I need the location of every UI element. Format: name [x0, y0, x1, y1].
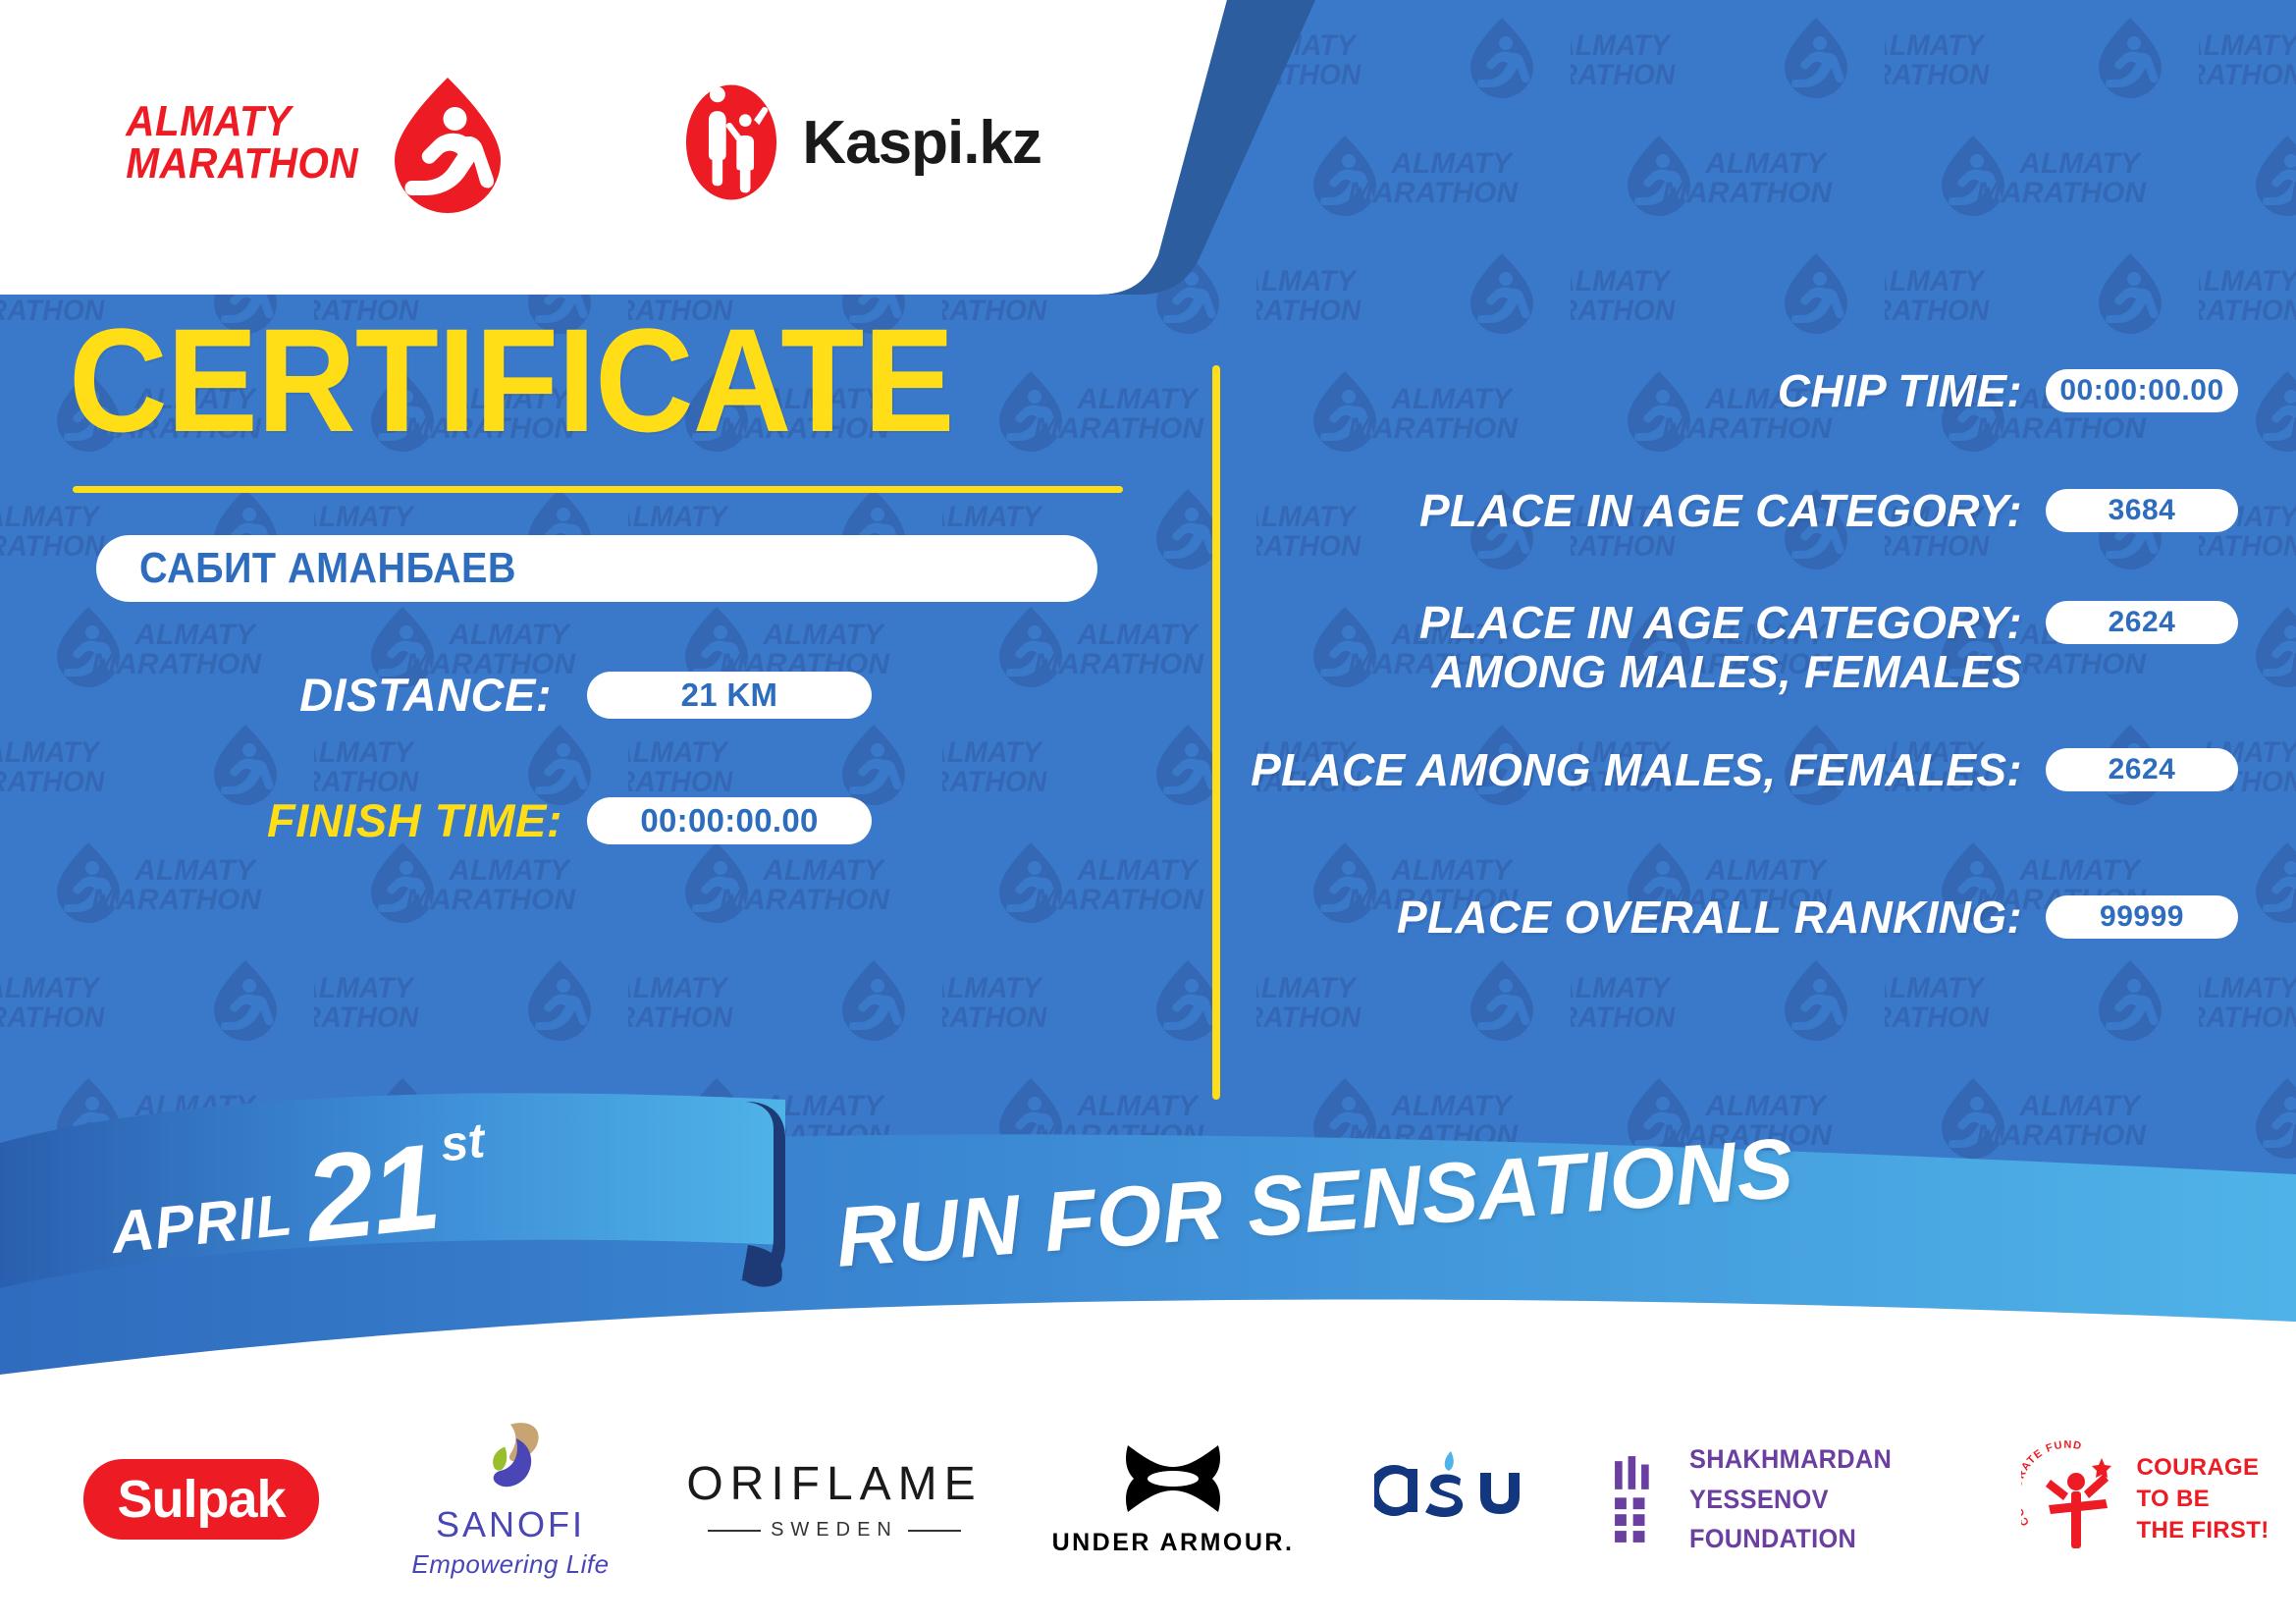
- kaspi-wordmark: Kaspi.kz: [802, 108, 1041, 178]
- finish-time-row: FINISH TIME: 00:00:00.00: [267, 793, 934, 847]
- place-overall-ranking-value: 99999: [2046, 895, 2238, 939]
- place-overall-ranking-label: PLACE OVERALL RANKING:: [1247, 893, 2046, 943]
- event-day: 21: [301, 1135, 443, 1252]
- kaspi-logo: Kaspi.kz: [678, 81, 1041, 203]
- place-overall-ranking-row: PLACE OVERALL RANKING: 99999: [1247, 893, 2238, 943]
- almaty-marathon-wordmark: ALMATY MARATHON: [126, 100, 358, 185]
- kaspi-people-icon: [678, 81, 784, 203]
- sponsor-yessenov-foundation: SHAKHMARDAN YESSENOV FOUNDATION: [1610, 1435, 2002, 1563]
- athlete-name-field: САБИТ АМАНБАЕВ: [96, 535, 1097, 602]
- sponsor-sanofi: SANOFI Empowering Life: [363, 1435, 658, 1563]
- sponsor-asu: [1335, 1435, 1610, 1563]
- yessenov-line1: SHAKHMARDAN YESSENOV: [1689, 1439, 1984, 1519]
- place-age-category-label: PLACE IN AGE CATEGORY:: [1247, 487, 2046, 536]
- almaty-line1: ALMATY: [126, 100, 358, 142]
- courage-fund-icon: CORPORATE FUND: [2021, 1440, 2127, 1558]
- sanofi-wordmark: SANOFI: [411, 1504, 609, 1545]
- almaty-marathon-logo: ALMATY MARATHON: [116, 69, 521, 216]
- header-logos: ALMATY MARATHON: [0, 0, 1178, 285]
- courage-line1: COURAGE: [2137, 1452, 2269, 1484]
- place-among-gender-label: PLACE AMONG MALES, FEMALES:: [1247, 746, 2046, 795]
- chip-time-value: 00:00:00.00: [2046, 369, 2238, 412]
- oriflame-rule-right: [908, 1530, 961, 1532]
- column-divider: [1212, 365, 1220, 1100]
- oriflame-country: SWEDEN: [771, 1519, 898, 1542]
- title-underline-rule: [73, 486, 1123, 493]
- yessenov-line2: FOUNDATION: [1689, 1519, 1984, 1559]
- under-armour-wordmark: UNDER ARMOUR.: [1052, 1529, 1295, 1557]
- distance-row: DISTANCE: 21 KM: [267, 668, 934, 722]
- place-among-gender-row: PLACE AMONG MALES, FEMALES: 2624: [1247, 746, 2238, 795]
- yessenov-wordmark: SHAKHMARDAN YESSENOV FOUNDATION: [1689, 1439, 1984, 1559]
- finish-time-value: 00:00:00.00: [587, 797, 872, 844]
- oriflame-wordmark: ORIFLAME: [686, 1457, 982, 1511]
- certificate-canvas: ALMATY MARATHON: [0, 0, 2296, 1624]
- left-column: CERTIFICATE САБИТ АМАНБАЕВ DISTANCE: 21 …: [0, 285, 1212, 1139]
- page-title: CERTIFICATE: [69, 306, 954, 454]
- place-age-category-value: 3684: [2046, 489, 2238, 532]
- asu-wordmark: [1374, 1443, 1571, 1538]
- almaty-line2: MARATHON: [126, 142, 358, 185]
- courage-line3: THE FIRST!: [2137, 1515, 2269, 1546]
- place-among-gender-value: 2624: [2046, 748, 2238, 791]
- place-age-category-gender-value: 2624: [2046, 601, 2238, 644]
- stats-column: CHIP TIME: 00:00:00.00 PLACE IN AGE CATE…: [1247, 285, 2296, 1139]
- sponsor-oriflame: ORIFLAME SWEDEN: [658, 1435, 1011, 1563]
- sanofi-logo: [468, 1419, 553, 1497]
- athlete-name-value: САБИТ АМАНБАЕВ: [139, 544, 516, 593]
- ribbon-banner: APRIL 21 st RUN FOR SENSATIONS: [0, 1080, 2296, 1384]
- distance-label: DISTANCE:: [267, 668, 552, 722]
- certificate-body: CERTIFICATE САБИТ АМАНБАЕВ DISTANCE: 21 …: [0, 285, 2296, 1139]
- sponsor-under-armour: UNDER ARMOUR.: [1011, 1435, 1335, 1563]
- oriflame-rule-left: [708, 1530, 761, 1532]
- yessenov-foundation-icon: [1610, 1448, 1668, 1550]
- asu-logo: [1374, 1443, 1571, 1555]
- courage-line2: TO BE: [2137, 1484, 2269, 1515]
- runner-drop-icon: [374, 69, 521, 216]
- chip-time-row: CHIP TIME: 00:00:00.00: [1247, 367, 2238, 416]
- header-band: ALMATY MARATHON: [0, 0, 2296, 285]
- sponsor-sulpak: Sulpak: [39, 1435, 363, 1563]
- finish-time-label: FINISH TIME:: [267, 793, 552, 847]
- distance-value: 21 KM: [587, 672, 872, 719]
- sponsor-bar: Sulpak SANOFI Empowering Life ORIFLAME S…: [0, 1375, 2296, 1624]
- sulpak-logo: Sulpak: [83, 1459, 318, 1540]
- place-age-category-row: PLACE IN AGE CATEGORY: 3684: [1247, 487, 2238, 536]
- sanofi-tagline: Empowering Life: [411, 1549, 609, 1580]
- courage-fund-wordmark: COURAGE TO BE THE FIRST!: [2137, 1452, 2269, 1545]
- sponsor-courage-fund: CORPORATE FUND COURAGE TO BE THE FIRST!: [2002, 1435, 2287, 1563]
- oriflame-sub-row: SWEDEN: [686, 1519, 982, 1542]
- place-age-category-gender-row: PLACE IN AGE CATEGORY: AMONG MALES, FEMA…: [1247, 599, 2238, 696]
- chip-time-label: CHIP TIME:: [1247, 367, 2046, 416]
- place-age-category-gender-label: PLACE IN AGE CATEGORY: AMONG MALES, FEMA…: [1247, 599, 2046, 696]
- under-armour-icon: [1114, 1441, 1232, 1518]
